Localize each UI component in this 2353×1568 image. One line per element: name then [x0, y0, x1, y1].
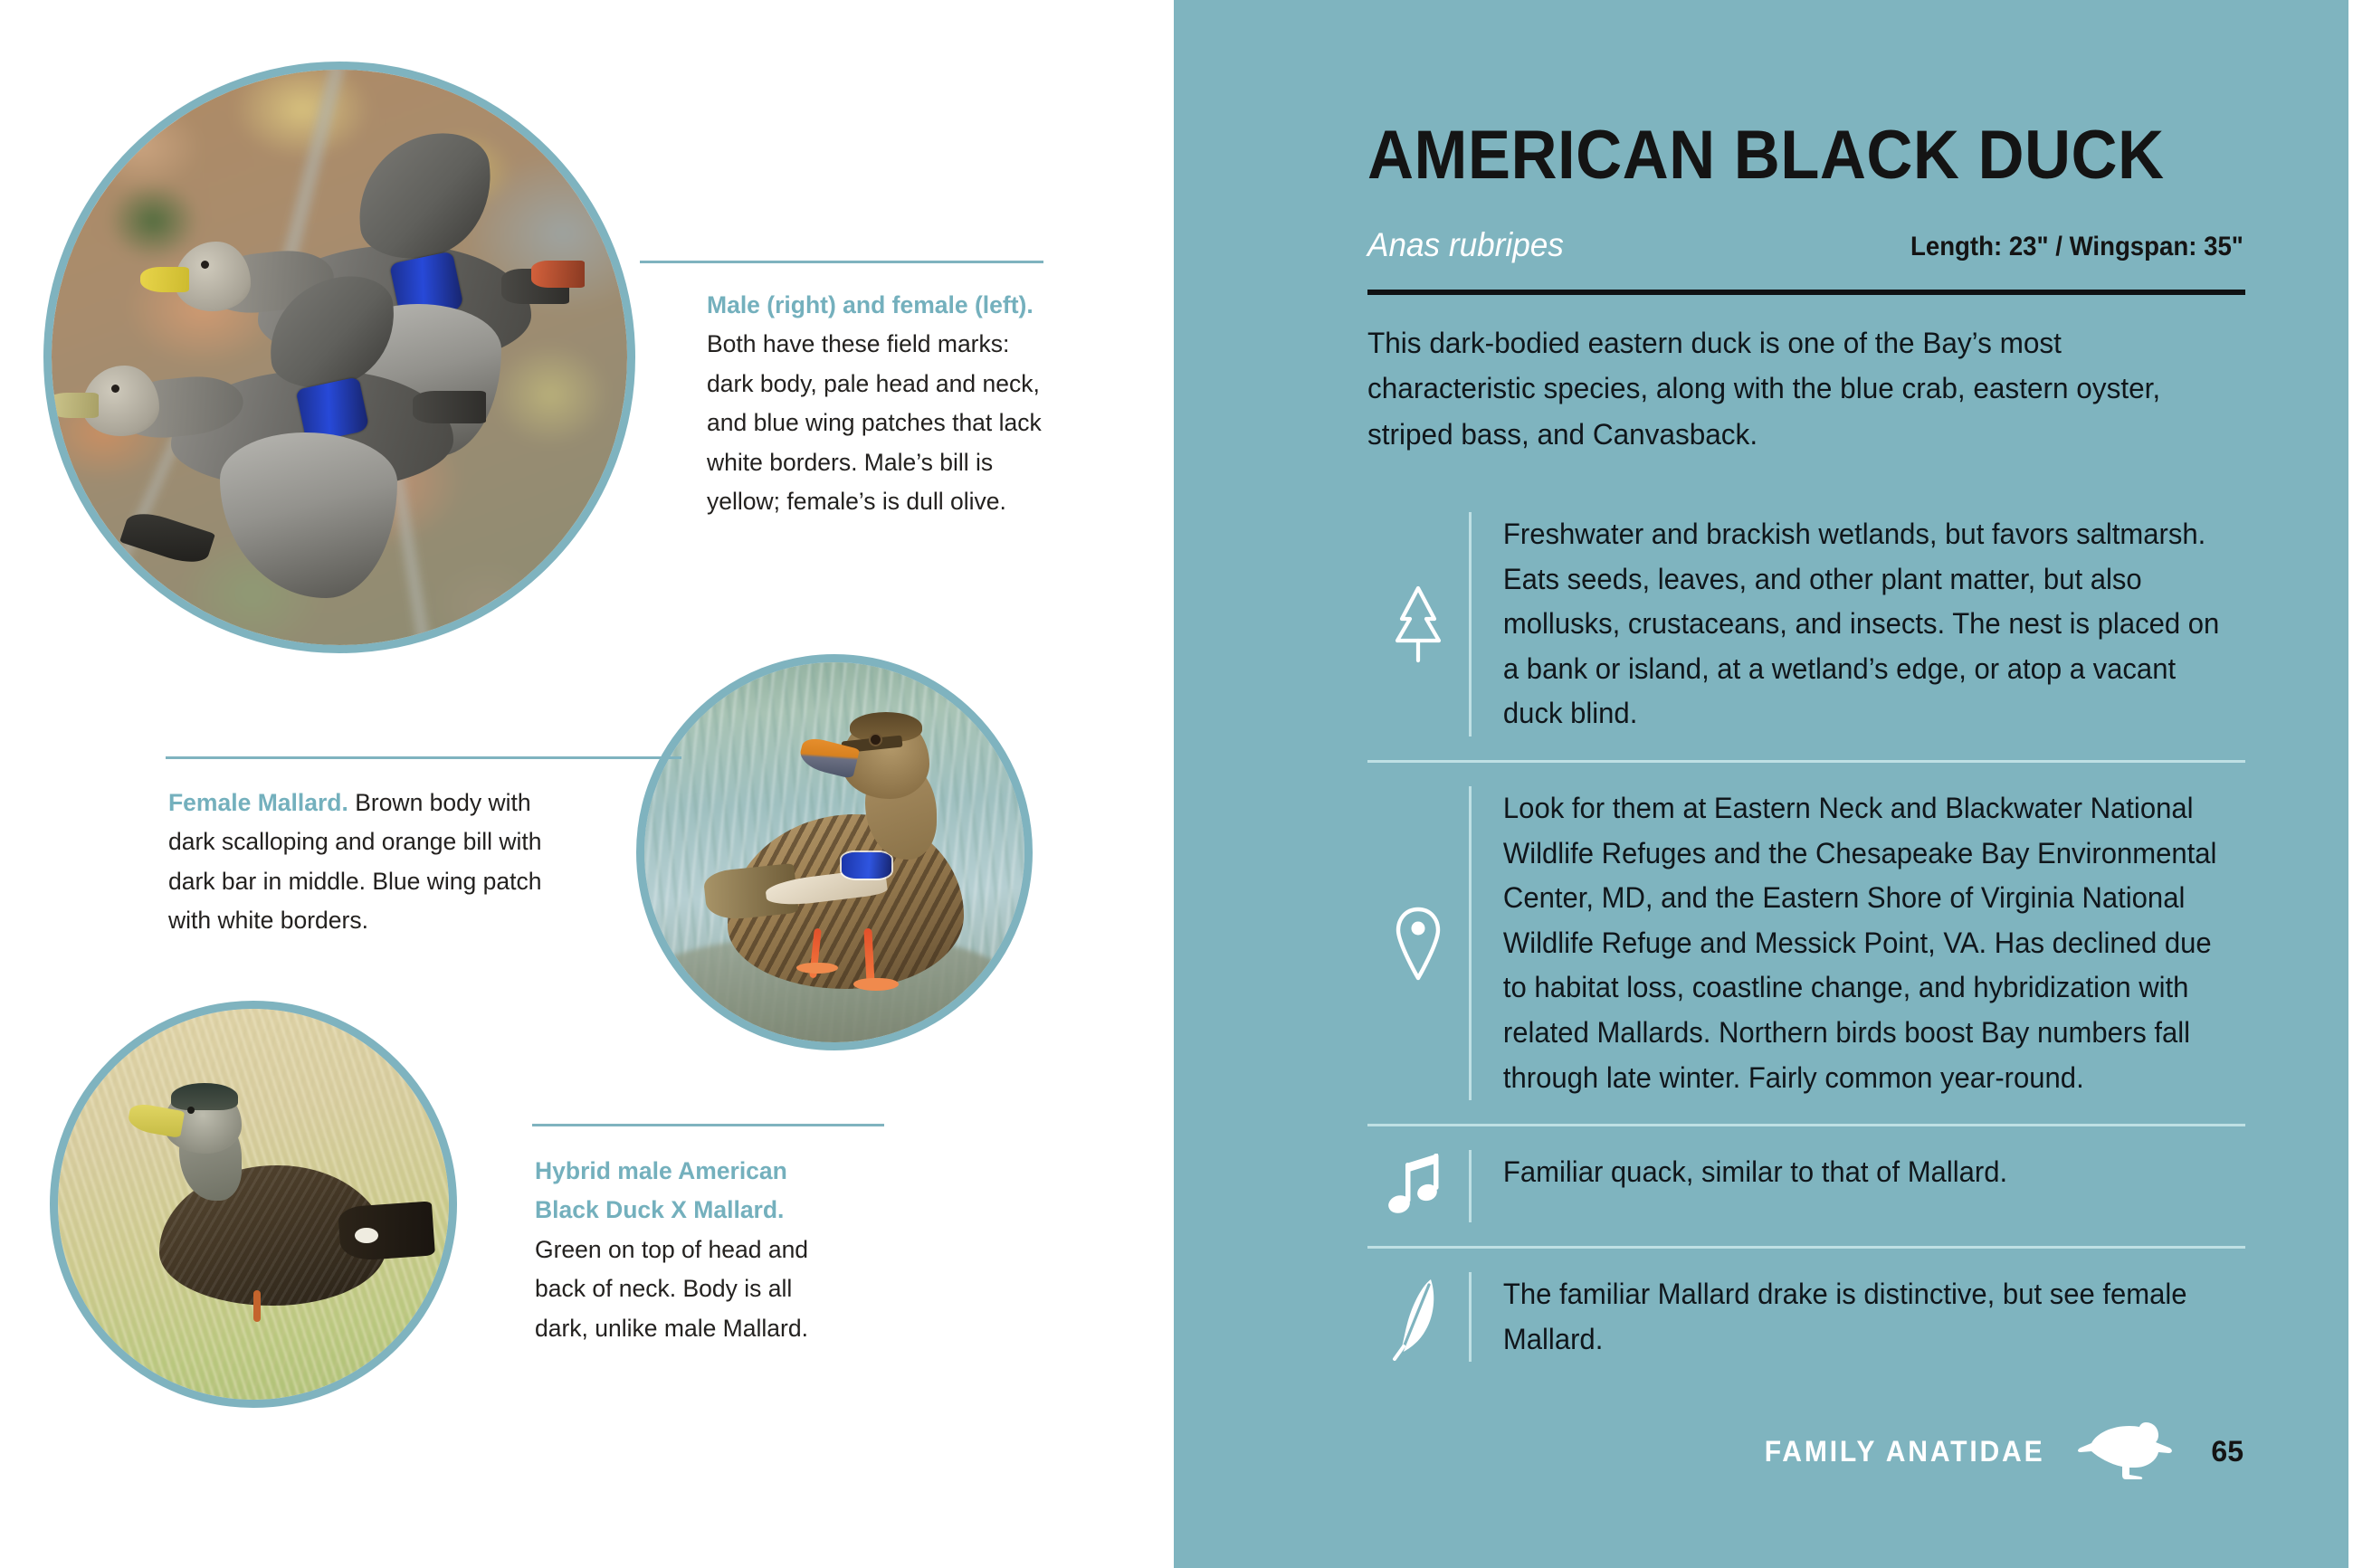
- female-black-duck: [74, 328, 477, 536]
- hybrid-caption-body: Green on top of head and back of neck. B…: [535, 1236, 808, 1342]
- page-number: 65: [2211, 1435, 2243, 1468]
- fact-text-habitat: Freshwater and brackish wetlands, but fa…: [1472, 512, 2222, 736]
- music-note-icon: [1367, 1150, 1469, 1222]
- hybrid-photo-image: [58, 1009, 449, 1400]
- flight-caption-lead: Male (right) and female (left).: [707, 291, 1034, 318]
- fact-row-similar: The familiar Mallard drake is distinctiv…: [1367, 1246, 2245, 1385]
- map-pin-icon: [1367, 902, 1469, 985]
- family-label: FAMILY ANATIDAE: [1765, 1435, 2045, 1468]
- hybrid-caption: Hybrid male American Black Duck X Mallar…: [535, 1152, 834, 1348]
- fact-text-similar: The familiar Mallard drake is distinctiv…: [1472, 1272, 2222, 1362]
- measurements: Length: 23" / Wingspan: 35": [1910, 232, 2243, 262]
- mallard-eye: [869, 733, 882, 746]
- flight-photo-image: [52, 70, 627, 645]
- intro-paragraph: This dark-bodied eastern duck is one of …: [1367, 320, 2236, 457]
- flight-caption: Male (right) and female (left). Both hav…: [707, 286, 1043, 522]
- photo-page: Male (right) and female (left). Both hav…: [0, 0, 1174, 1568]
- mallard-photo: [636, 654, 1033, 1050]
- hybrid-tail: [338, 1201, 435, 1262]
- field-guide-spread: Male (right) and female (left). Both hav…: [0, 0, 2353, 1568]
- fact-text-location: Look for them at Eastern Neck and Blackw…: [1472, 786, 2222, 1100]
- mallard-photo-image: [644, 662, 1024, 1042]
- flight-caption-rule: [640, 261, 1043, 263]
- duck-silhouette-icon: [2075, 1417, 2180, 1487]
- mallard-caption: Female Mallard. Brown body with dark sca…: [168, 784, 576, 941]
- fact-text-voice: Familiar quack, similar to that of Malla…: [1472, 1150, 2222, 1195]
- scientific-name: Anas rubripes: [1367, 226, 1564, 264]
- conifer-tree-icon: [1367, 583, 1469, 666]
- hybrid-photo: [50, 1001, 457, 1408]
- fact-list: Freshwater and brackish wetlands, but fa…: [1367, 489, 2245, 1385]
- flight-caption-body: Both have these field marks: dark body, …: [707, 330, 1042, 515]
- hybrid-crown: [171, 1083, 237, 1110]
- header-rule: [1367, 290, 2245, 295]
- fact-row-location: Look for them at Eastern Neck and Blackw…: [1367, 760, 2245, 1124]
- mallard-caption-lead: Female Mallard.: [168, 789, 348, 816]
- hybrid-caption-lead: Hybrid male American Black Duck X Mallar…: [535, 1157, 787, 1223]
- hybrid-leg: [253, 1290, 261, 1322]
- fact-row-voice: Familiar quack, similar to that of Malla…: [1367, 1124, 2245, 1246]
- feather-icon: [1367, 1274, 1469, 1361]
- flight-photo: [43, 62, 635, 653]
- hybrid-eye: [187, 1107, 195, 1114]
- hybrid-caption-rule: [532, 1124, 884, 1126]
- page-title: AMERICAN BLACK DUCK: [1367, 116, 2165, 195]
- fact-row-habitat: Freshwater and brackish wetlands, but fa…: [1367, 489, 2245, 760]
- mallard-caption-rule: [166, 756, 681, 759]
- species-info-panel: AMERICAN BLACK DUCK Anas rubripes Length…: [1174, 0, 2348, 1568]
- page-footer: FAMILY ANATIDAE 65: [1747, 1417, 2243, 1487]
- mallard-speculum: [842, 852, 891, 879]
